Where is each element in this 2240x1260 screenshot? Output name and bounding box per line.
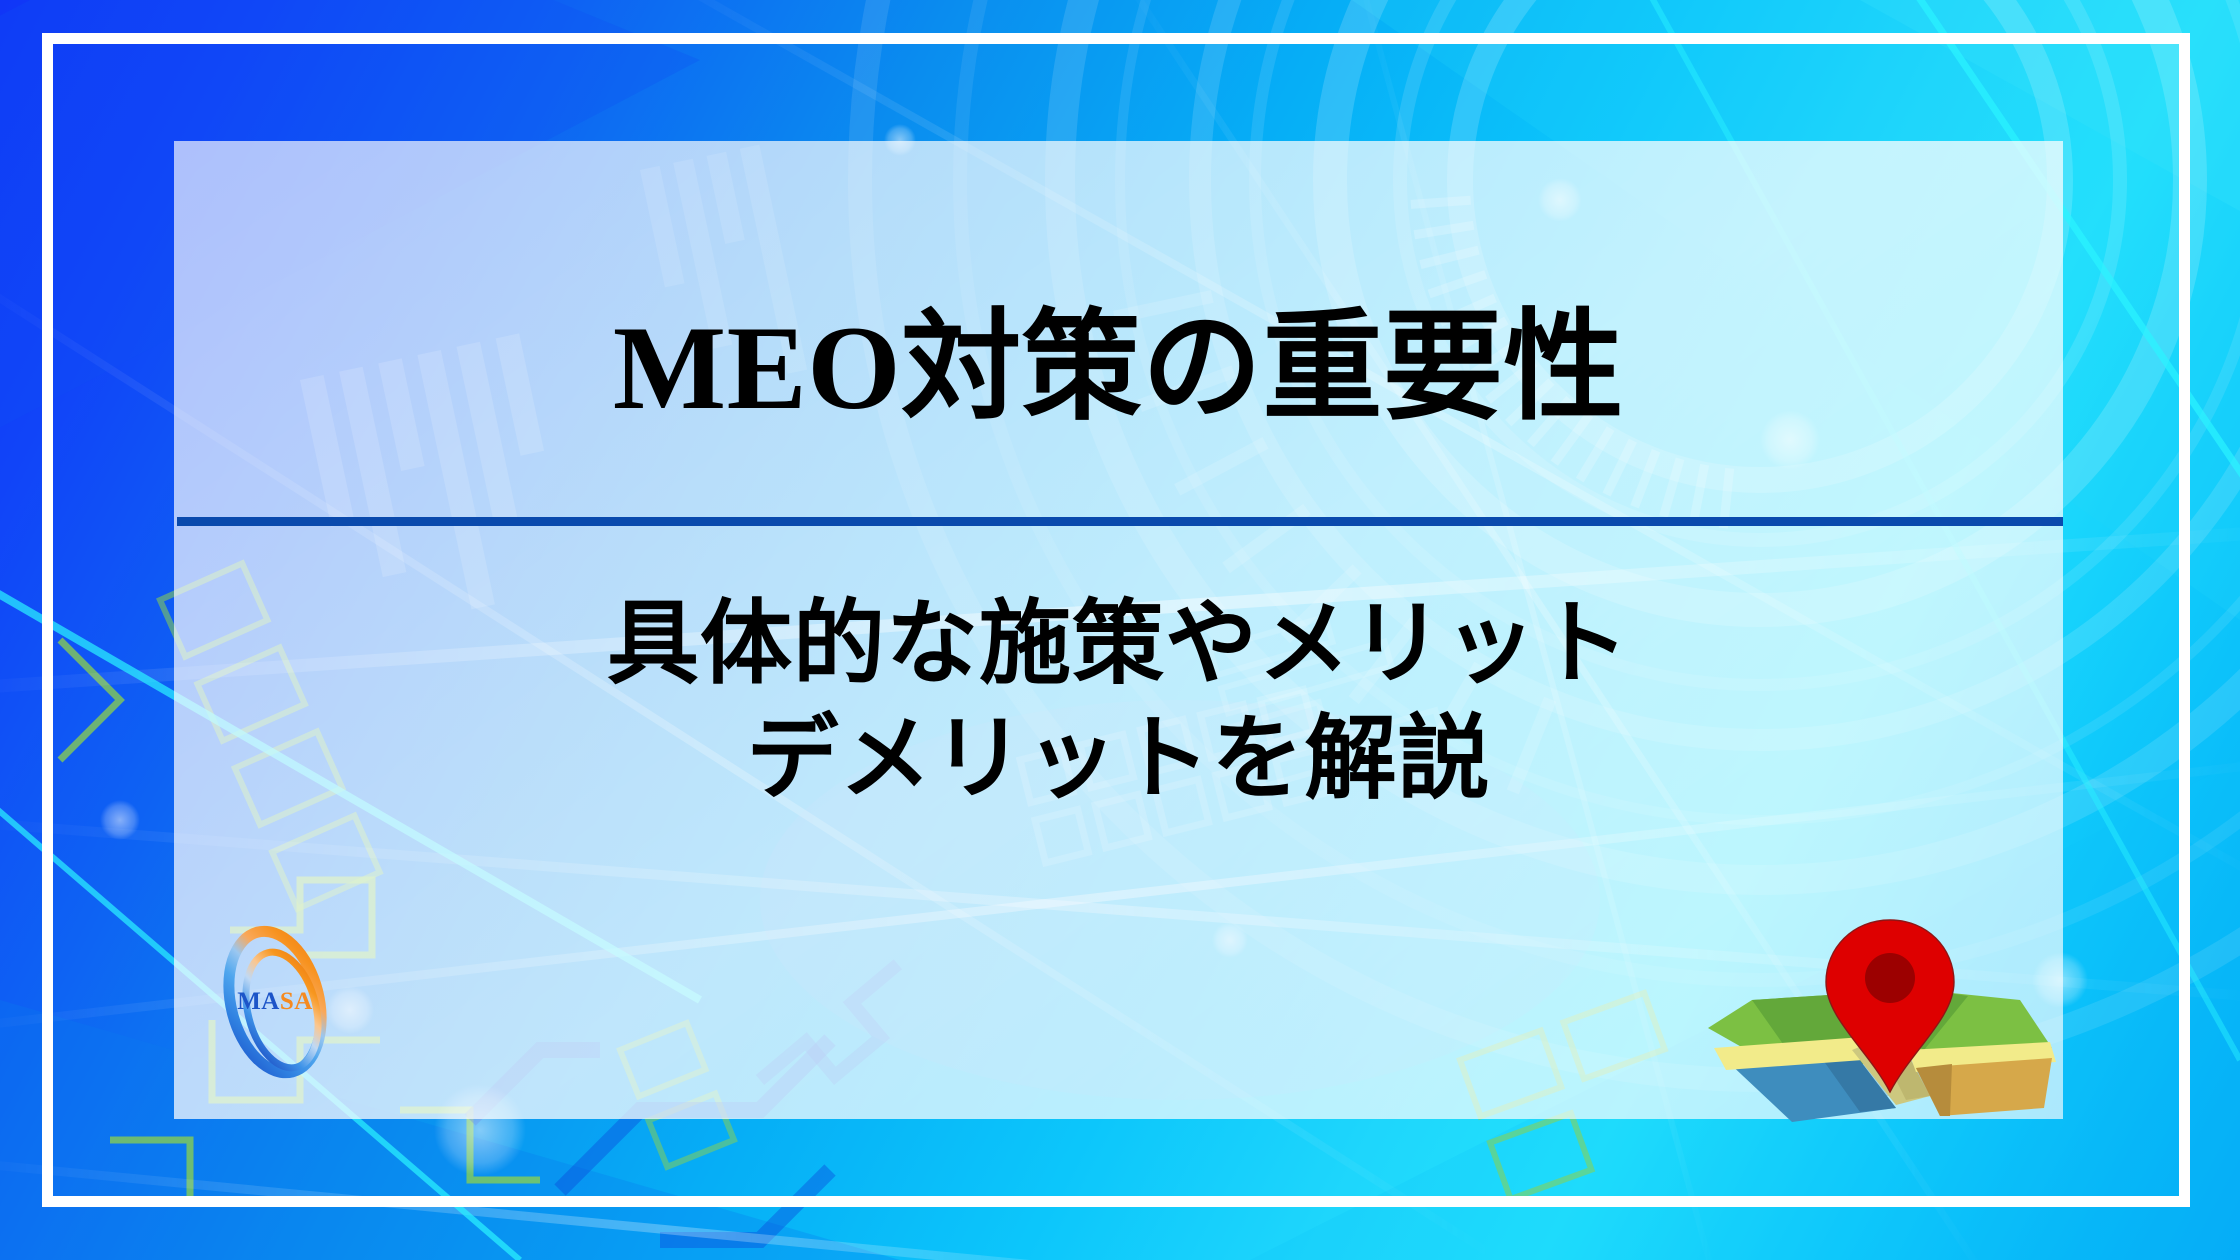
logo-text-sa: SA [280, 988, 313, 1015]
logo-text-ma: MA [237, 988, 280, 1015]
title-divider [177, 517, 2063, 526]
subtitle-line-1: 具体的な施策やメリット [174, 586, 2063, 701]
page-title: MEO対策の重要性 [174, 303, 2063, 433]
subtitle-line-2: デメリットを解説 [174, 701, 2063, 816]
location-pin-hole [1865, 953, 1915, 1003]
page-subtitle: 具体的な施策やメリット デメリットを解説 [174, 586, 2063, 816]
slide-canvas: MEO対策の重要性 具体的な施策やメリット デメリットを解説 [0, 0, 2240, 1260]
svg-text:MASA: MASA [237, 988, 313, 1015]
masa-logo: MASA [200, 918, 350, 1086]
map-pin-illustration [1700, 900, 2060, 1150]
